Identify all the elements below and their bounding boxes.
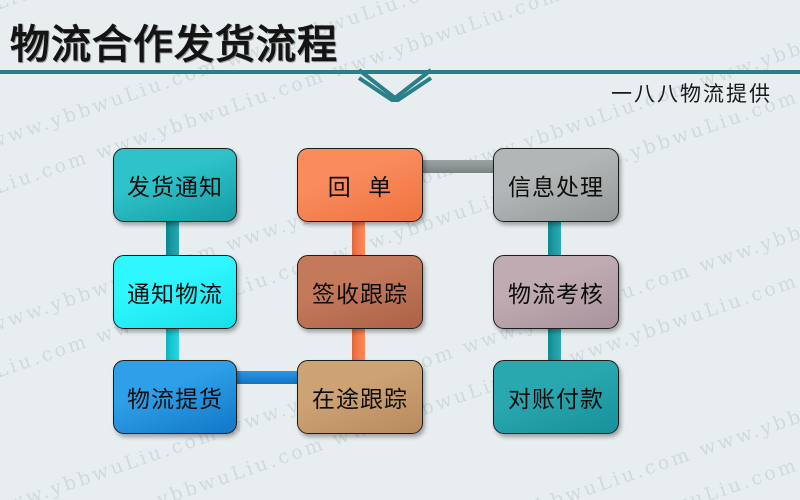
node-duizhang-fukuan[interactable]: 对账付款 <box>493 360 619 434</box>
subtitle-provider: 一八八物流提供 <box>611 78 772 108</box>
conn-qianshou-to-zaitu <box>352 325 365 365</box>
conn-xinxi-to-kaohe <box>548 218 561 260</box>
node-wuliu-tihuo[interactable]: 物流提货 <box>113 360 237 434</box>
node-label: 物流提货 <box>127 380 223 414</box>
conn-tihuo-to-zaitu <box>233 371 303 384</box>
conn-huidan-to-xinxi <box>419 160 497 173</box>
node-label: 通知物流 <box>127 275 223 309</box>
node-zaitu-genzong[interactable]: 在途跟踪 <box>297 360 423 434</box>
node-qianshou-genzong[interactable]: 签收跟踪 <box>297 255 423 329</box>
node-tongzhi-wuliu[interactable]: 通知物流 <box>113 255 237 329</box>
node-label: 签收跟踪 <box>312 275 408 309</box>
node-xinxi-chuli[interactable]: 信息处理 <box>493 148 619 222</box>
conn-kaohe-to-duizhang <box>548 325 561 365</box>
node-fahuo-tongzhi[interactable]: 发货通知 <box>113 148 237 222</box>
node-label: 物流考核 <box>508 275 604 309</box>
node-label: 在途跟踪 <box>312 380 408 414</box>
double-chevron-down-icon <box>355 68 435 102</box>
node-hui-dan[interactable]: 回 单 <box>297 148 423 222</box>
conn-fahuo-to-tongzhi <box>166 218 179 260</box>
node-label: 对账付款 <box>508 380 604 414</box>
header: 物流合作发货流程 一八八物流提供 <box>0 0 800 120</box>
page-title: 物流合作发货流程 <box>10 12 338 70</box>
node-wuliu-kaohe[interactable]: 物流考核 <box>493 255 619 329</box>
conn-huidan-to-qianshou <box>352 218 365 260</box>
node-label: 回 单 <box>328 168 393 202</box>
conn-tongzhi-to-tihuo <box>166 325 179 365</box>
node-label: 发货通知 <box>127 168 223 202</box>
node-label: 信息处理 <box>508 168 604 202</box>
